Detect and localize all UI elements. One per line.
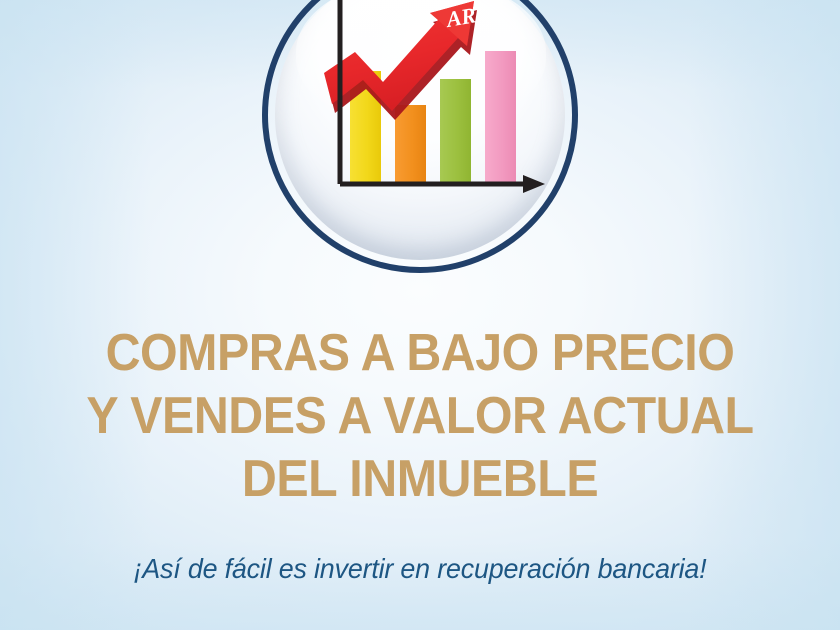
headline-line-1: COMPRAS A BAJO PRECIO — [29, 322, 810, 385]
emblem-circle: AR — [262, 0, 578, 273]
promo-poster: AR COMPRAS A BAJO PRECIO Y VENDES A VALO… — [0, 0, 840, 630]
page-title: COMPRAS A BAJO PRECIO Y VENDES A VALOR A… — [0, 322, 840, 511]
headline-line-3: DEL INMUEBLE — [29, 448, 810, 511]
headline-line-2: Y VENDES A VALOR ACTUAL — [29, 385, 810, 448]
subtitle-text: ¡Así de fácil es invertir en recuperació… — [17, 551, 823, 587]
